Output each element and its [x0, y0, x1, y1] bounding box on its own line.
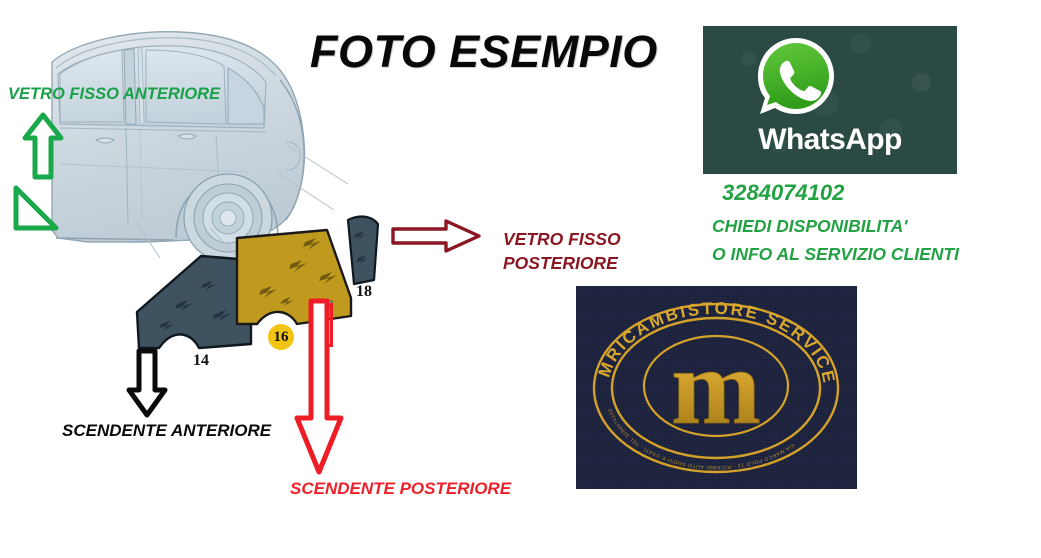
right-arrow-icon: [390, 218, 482, 254]
company-logo-plate: MRICAMBISTORE SERVICE DI RUSSO MARCO VIA…: [576, 286, 857, 489]
page-title: FOTO ESEMPIO: [310, 26, 658, 78]
whatsapp-banner[interactable]: WhatsApp: [703, 26, 957, 174]
contact-line-1: CHIEDI DISPONIBILITA': [712, 216, 907, 237]
whatsapp-wordmark: WhatsApp: [703, 123, 957, 157]
part-number-14: 14: [193, 352, 209, 370]
whatsapp-icon: [753, 34, 839, 126]
contact-phone-number[interactable]: 3284074102: [722, 180, 844, 206]
down-arrow-long-icon: [293, 298, 345, 476]
label-scendente-posteriore: SCENDENTE POSTERIORE: [290, 479, 511, 499]
label-vetro-fisso-posteriore: VETRO FISSO POSTERIORE: [503, 227, 621, 275]
down-arrow-icon: [126, 348, 168, 418]
company-logo-icon: MRICAMBISTORE SERVICE DI RUSSO MARCO VIA…: [576, 286, 857, 489]
label-scendente-anteriore: SCENDENTE ANTERIORE: [62, 421, 271, 441]
part-badge-16: 16: [268, 324, 294, 350]
up-arrow-icon: [22, 112, 64, 180]
label-vetro-fisso-posteriore-line1: VETRO FISSO: [503, 227, 621, 251]
glass-part-18: [344, 212, 382, 288]
triangle-marker-icon: [12, 184, 60, 232]
part-number-18: 18: [356, 283, 372, 301]
contact-line-2: O INFO AL SERVIZIO CLIENTI: [712, 244, 959, 265]
screenshot-canvas: 14 16 17 18: [0, 0, 1041, 558]
label-vetro-fisso-anteriore: VETRO FISSO ANTERIORE: [8, 85, 220, 104]
svg-text:m: m: [671, 328, 761, 447]
label-vetro-fisso-posteriore-line2: POSTERIORE: [503, 251, 621, 275]
